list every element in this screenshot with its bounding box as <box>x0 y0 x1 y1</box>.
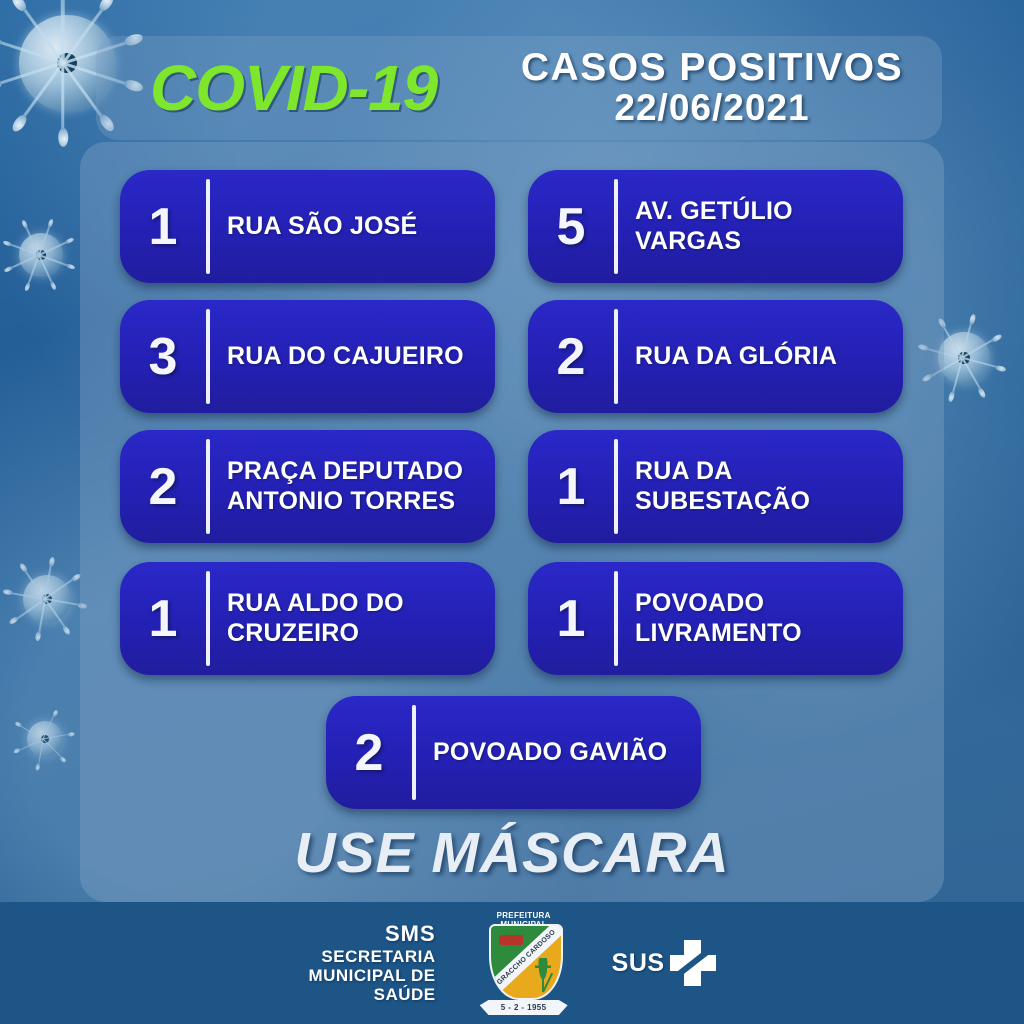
case-street-name: AV. GETÚLIO VARGAS <box>618 197 903 256</box>
case-street-name: PRAÇA DEPUTADO ANTONIO TORRES <box>210 457 495 516</box>
case-count: 1 <box>120 593 206 645</box>
case-count: 2 <box>528 331 614 383</box>
case-street-name: RUA DA SUBESTAÇÃO <box>618 457 903 516</box>
case-card: 5 AV. GETÚLIO VARGAS <box>528 170 903 283</box>
case-count: 3 <box>120 331 206 383</box>
footer-logos: SMS SECRETARIA MUNICIPAL DE SAÚDE PREFEI… <box>0 902 1024 1024</box>
crest-red-mark <box>499 935 523 946</box>
case-street-name: RUA DO CAJUEIRO <box>210 342 495 372</box>
case-count: 1 <box>528 461 614 513</box>
brand-title: COVID-19 <box>150 51 437 125</box>
crest-shield: GRACCHO CARDOSO <box>489 924 563 1000</box>
virus-particle-icon <box>2 216 80 294</box>
case-count: 2 <box>326 727 412 779</box>
sus-logo: SUS <box>612 940 716 986</box>
sms-line-3: SAÚDE <box>308 985 435 1004</box>
covid-case-poster: COVID-19 CASOS POSITIVOS 22/06/2021 1 RU… <box>0 0 1024 1024</box>
case-card: 3 RUA DO CAJUEIRO <box>120 300 495 413</box>
virus-particle-icon <box>4 556 90 642</box>
case-card: 1 RUA ALDO DO CRUZEIRO <box>120 562 495 675</box>
case-card: 1 RUA SÃO JOSÉ <box>120 170 495 283</box>
case-street-name: RUA SÃO JOSÉ <box>210 212 495 242</box>
case-street-name: RUA DA GLÓRIA <box>618 342 903 372</box>
crest-ribbon-text: 5 - 2 - 1955 <box>501 1003 547 1012</box>
municipality-crest-icon: PREFEITURA MUNICIPAL GRACCHO CARDOSO 5 -… <box>476 911 572 1015</box>
case-street-name: POVOADO LIVRAMENTO <box>618 589 903 648</box>
sms-line-2: MUNICIPAL DE <box>308 966 435 985</box>
report-date: 22/06/2021 <box>506 88 918 128</box>
header-title-group: CASOS POSITIVOS 22/06/2021 <box>506 48 918 128</box>
case-card: 2 PRAÇA DEPUTADO ANTONIO TORRES <box>120 430 495 543</box>
case-card: 1 POVOADO LIVRAMENTO <box>528 562 903 675</box>
case-card: 2 RUA DA GLÓRIA <box>528 300 903 413</box>
case-street-name: RUA ALDO DO CRUZEIRO <box>210 589 495 648</box>
case-count: 1 <box>528 593 614 645</box>
sms-line-1: SECRETARIA <box>308 947 435 966</box>
case-count: 2 <box>120 461 206 513</box>
crest-ribbon: 5 - 2 - 1955 <box>480 1000 568 1015</box>
page-title: CASOS POSITIVOS <box>506 48 918 88</box>
case-street-name: POVOADO GAVIÃO <box>416 738 701 768</box>
case-card: 2 POVOADO GAVIÃO <box>326 696 701 809</box>
header-band: COVID-19 CASOS POSITIVOS 22/06/2021 <box>96 36 942 140</box>
sms-abbreviation: SMS <box>308 922 435 947</box>
slogan-text: USE MÁSCARA <box>0 820 1024 886</box>
sms-logo: SMS SECRETARIA MUNICIPAL DE SAÚDE <box>308 922 435 1004</box>
virus-particle-icon <box>12 706 78 772</box>
case-count: 1 <box>120 201 206 253</box>
sus-wordmark: SUS <box>612 949 665 978</box>
crest-corn-icon <box>535 958 551 992</box>
case-count: 5 <box>528 201 614 253</box>
case-card: 1 RUA DA SUBESTAÇÃO <box>528 430 903 543</box>
sus-cross-icon <box>670 940 716 986</box>
